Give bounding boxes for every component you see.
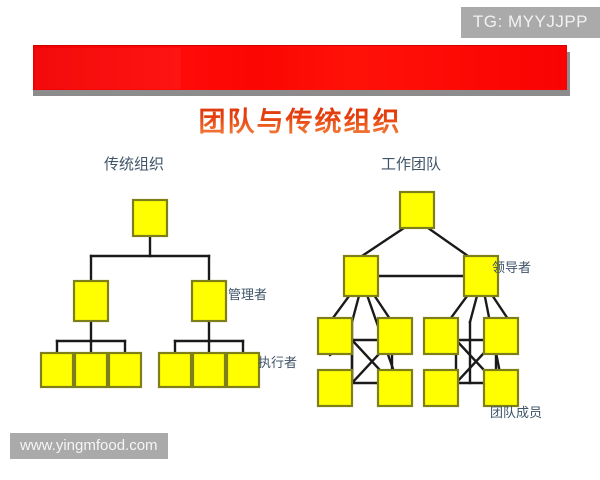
watermark-bottom-left: www.yingmfood.com: [10, 433, 168, 459]
team-node-level1: [400, 192, 434, 228]
label-team-member: 团队成员: [490, 402, 542, 421]
watermark-top-right: TG: MYYJJPP: [461, 7, 600, 38]
team-links: [330, 228, 510, 383]
slide-canvas: 团队与传统组织 传统组织: [0, 0, 600, 480]
label-leader: 领导者: [492, 257, 531, 276]
team-nodes-level3: [318, 318, 518, 406]
